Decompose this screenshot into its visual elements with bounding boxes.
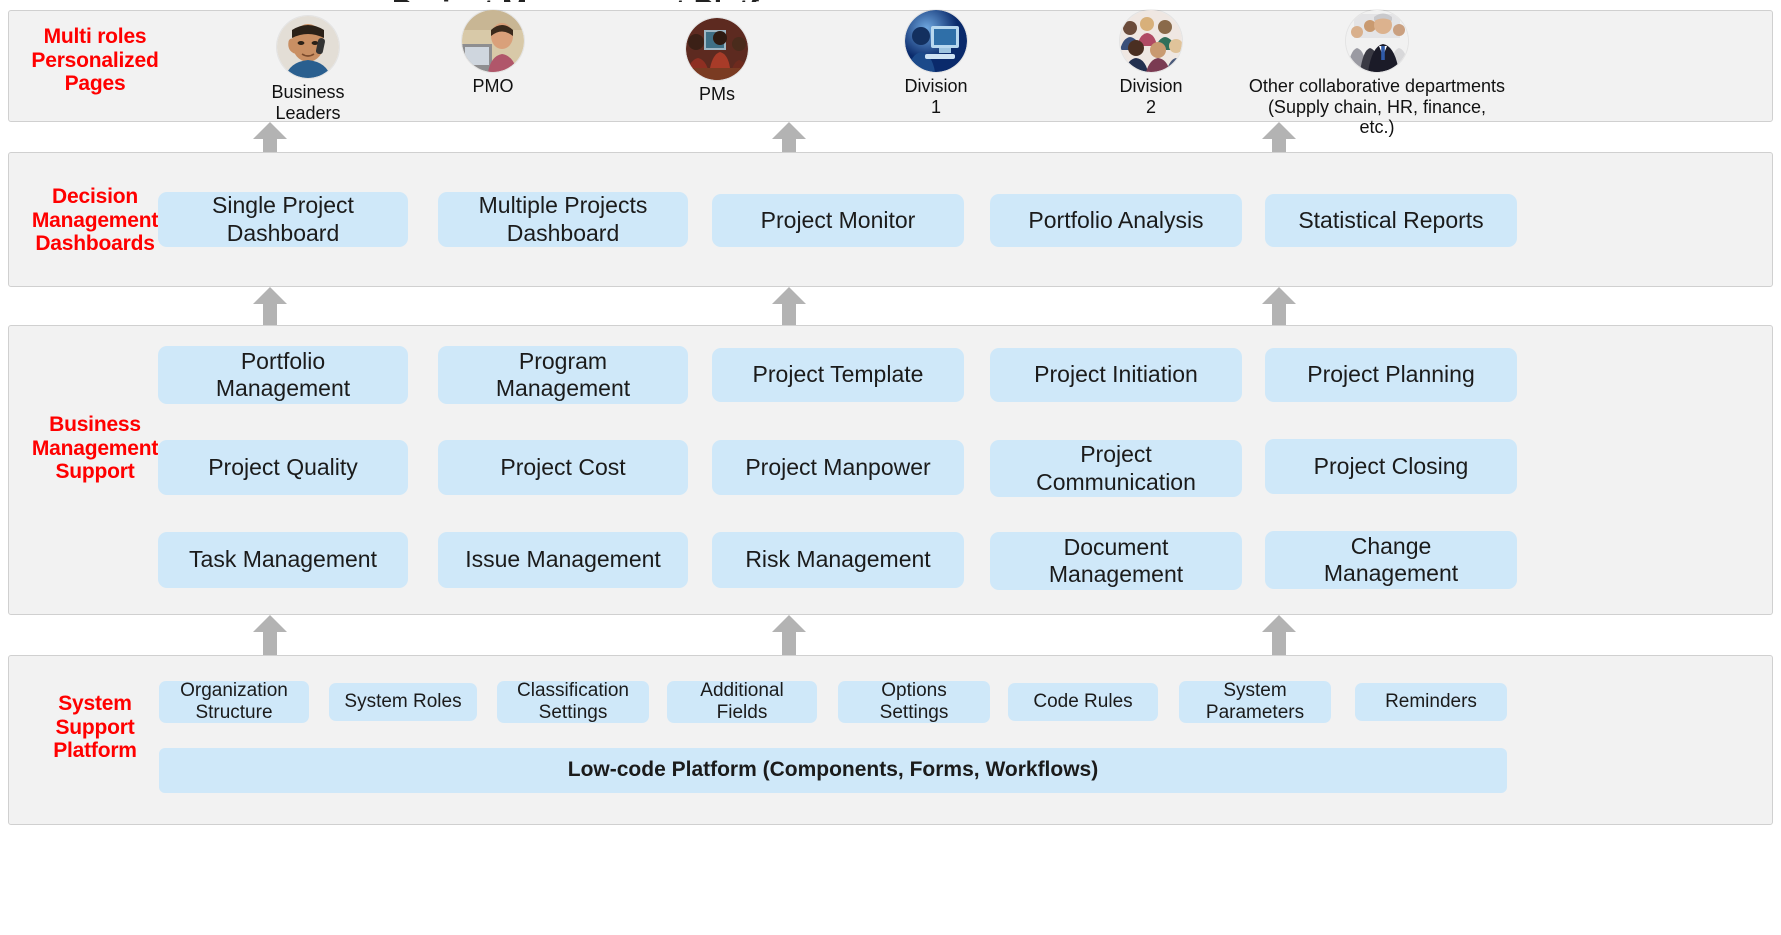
crowd-photo-icon [1120,10,1182,72]
persona-division-2[interactable]: Division 2 [1116,10,1186,117]
persona-division-1[interactable]: Division 1 [901,10,971,117]
person-laptop-photo-icon [462,10,524,72]
persona-pmo[interactable]: PMO [458,10,528,97]
system-box-low-code-platform[interactable]: Low-code Platform (Components, Forms, Wo… [159,748,1507,793]
persona-business-leaders[interactable]: Business Leaders [238,16,378,123]
business-box-project-planning[interactable]: Project Planning [1265,348,1517,402]
page-title-sliver: Project Management Platform [392,0,815,2]
layer-label-dashboards: Decision Management Dashboards [10,185,180,256]
business-box-project-communication[interactable]: Project Communication [990,440,1242,497]
business-box-project-quality[interactable]: Project Quality [158,440,408,495]
system-box-code-rules[interactable]: Code Rules [1008,683,1158,721]
dashboard-box-statistical-reports[interactable]: Statistical Reports [1265,194,1517,247]
business-box-program-management[interactable]: Program Management [438,346,688,404]
business-box-project-initiation[interactable]: Project Initiation [990,348,1242,402]
layer-label-personas: Multi roles Personalized Pages [10,25,180,96]
architecture-diagram: Project Management Platform Multi roles … [0,0,1781,935]
system-box-system-roles[interactable]: System Roles [329,683,477,721]
dashboard-box-portfolio-analysis[interactable]: Portfolio Analysis [990,194,1242,247]
system-box-additional-fields[interactable]: Additional Fields [667,681,817,723]
layer-label-business: Business Management Support [10,413,180,484]
person-monitor-photo-icon [905,10,967,72]
person-phone-photo-icon [277,16,339,78]
business-box-project-cost[interactable]: Project Cost [438,440,688,495]
dashboard-box-multiple-projects[interactable]: Multiple Projects Dashboard [438,192,688,247]
up-arrow-icon [1262,287,1296,327]
system-box-system-parameters[interactable]: System Parameters [1179,681,1331,723]
business-box-document-management[interactable]: Document Management [990,532,1242,590]
business-group-photo-icon [1346,10,1408,72]
business-box-project-template[interactable]: Project Template [712,348,964,402]
business-box-project-closing[interactable]: Project Closing [1265,439,1517,494]
up-arrow-icon [772,287,806,327]
system-box-reminders[interactable]: Reminders [1355,683,1507,721]
up-arrow-icon [253,615,287,655]
business-box-project-manpower[interactable]: Project Manpower [712,440,964,495]
persona-pms[interactable]: PMs [682,18,752,105]
persona-caption: Division 2 [1116,76,1186,117]
business-box-change-management[interactable]: Change Management [1265,531,1517,589]
persona-caption: Business Leaders [238,82,378,123]
business-box-portfolio-management[interactable]: Portfolio Management [158,346,408,404]
persona-other-departments[interactable]: Other collaborative departments (Supply … [1248,10,1506,138]
persona-caption: Division 1 [901,76,971,117]
persona-caption: PMO [472,76,513,97]
system-box-organization-structure[interactable]: Organization Structure [159,681,309,723]
dashboard-box-single-project[interactable]: Single Project Dashboard [158,192,408,247]
business-box-task-management[interactable]: Task Management [158,532,408,588]
up-arrow-icon [772,615,806,655]
system-box-options-settings[interactable]: Options Settings [838,681,990,723]
team-meeting-photo-icon [686,18,748,80]
up-arrow-icon [1262,615,1296,655]
business-box-issue-management[interactable]: Issue Management [438,532,688,588]
persona-caption: PMs [699,84,735,105]
business-box-risk-management[interactable]: Risk Management [712,532,964,588]
dashboard-box-project-monitor[interactable]: Project Monitor [712,194,964,247]
up-arrow-icon [253,287,287,327]
system-box-classification-settings[interactable]: Classification Settings [497,681,649,723]
layer-label-system: System Support Platform [10,692,180,763]
